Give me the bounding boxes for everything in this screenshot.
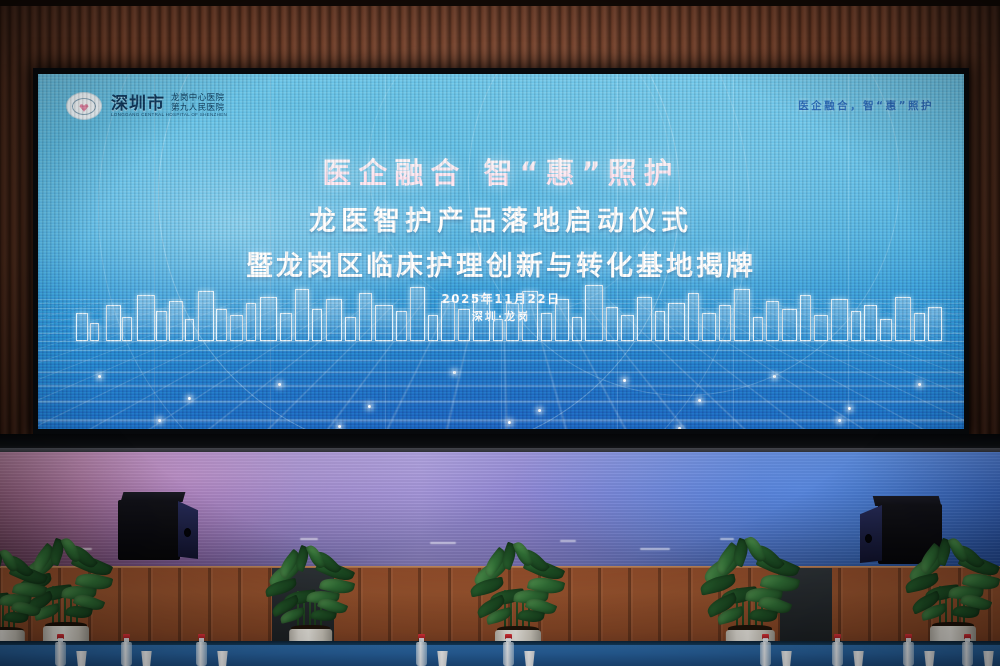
- ceiling-edge: [0, 0, 1000, 6]
- water-bottle: [962, 634, 973, 666]
- led-screen: 深圳市 龙岗中心医院 第九人民医院 LONGGANG CENTRAL HOSPI…: [38, 74, 964, 429]
- bottle-body: [903, 642, 914, 666]
- led-panel-seam: [501, 74, 502, 429]
- water-bottle: [832, 634, 843, 666]
- led-panel-seam: [385, 74, 386, 429]
- water-bottle: [760, 634, 771, 666]
- led-panel-seam: [154, 74, 155, 429]
- water-bottle: [121, 634, 132, 666]
- water-bottle: [196, 634, 207, 666]
- bottle-body: [55, 642, 66, 666]
- bottle-body: [760, 642, 771, 666]
- floor-reflection: [300, 538, 318, 540]
- water-bottle: [416, 634, 427, 666]
- floor-reflection: [430, 542, 456, 544]
- bottle-body: [416, 642, 427, 666]
- water-bottle: [903, 634, 914, 666]
- bottle-body: [196, 642, 207, 666]
- led-panel-seam: [733, 74, 734, 429]
- led-panel-seam: [848, 74, 849, 429]
- bottle-body: [962, 642, 973, 666]
- stage-monitor-left: [118, 492, 196, 560]
- led-panel-seam: [270, 74, 271, 429]
- floor-reflection: [560, 540, 576, 542]
- led-panel-seam: [617, 74, 618, 429]
- floor-reflection: [720, 538, 734, 540]
- water-bottle: [55, 634, 66, 666]
- bottle-body: [832, 642, 843, 666]
- bottle-body: [503, 642, 514, 666]
- bottle-body: [121, 642, 132, 666]
- floor-reflection: [640, 548, 670, 550]
- conference-stage-photo: 深圳市 龙岗中心医院 第九人民医院 LONGGANG CENTRAL HOSPI…: [0, 0, 1000, 666]
- water-bottle: [503, 634, 514, 666]
